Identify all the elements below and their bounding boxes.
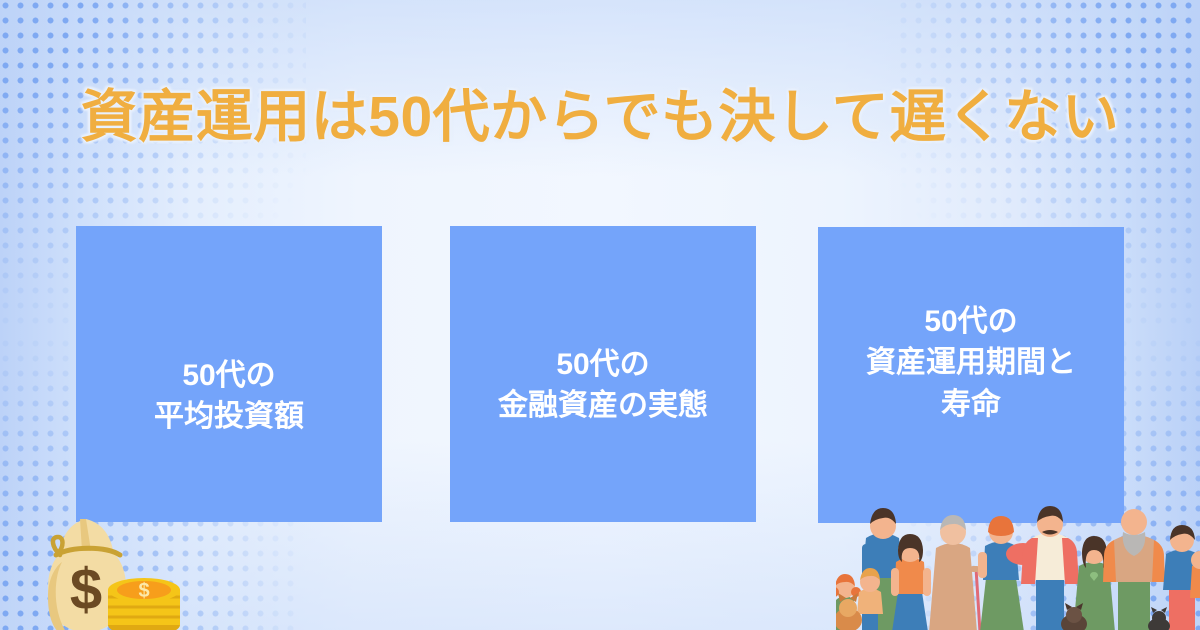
- topic-card-average-investment[interactable]: 50代の 平均投資額: [76, 226, 382, 522]
- family-group-illustration: [836, 482, 1200, 630]
- money-bag-knot: [53, 537, 63, 555]
- topic-card-label: 50代の 資産運用期間と 寿命: [866, 301, 1076, 425]
- cat: [1148, 607, 1170, 630]
- dollar-sign-icon: $: [70, 557, 102, 622]
- topic-card-label: 50代の 金融資産の実態: [498, 344, 708, 427]
- coin-stack: $: [108, 578, 180, 630]
- person-elderly-woman: [929, 515, 980, 630]
- money-bag-illustration: $ $: [14, 497, 194, 630]
- poster-canvas: 資産運用は50代からでも決して遅くない 50代の 平均投資額 50代の 金融資産…: [0, 0, 1200, 630]
- walking-cane: [976, 568, 980, 630]
- svg-text:$: $: [138, 580, 149, 602]
- topic-card-financial-assets[interactable]: 50代の 金融資産の実態: [450, 226, 756, 522]
- topic-card-investment-period-lifespan[interactable]: 50代の 資産運用期間と 寿命: [818, 227, 1124, 523]
- person-boy-with-baby: [1163, 525, 1200, 630]
- topic-card-label: 50代の 平均投資額: [154, 355, 304, 438]
- page-title: 資産運用は50代からでも決して遅くない: [0, 88, 1200, 148]
